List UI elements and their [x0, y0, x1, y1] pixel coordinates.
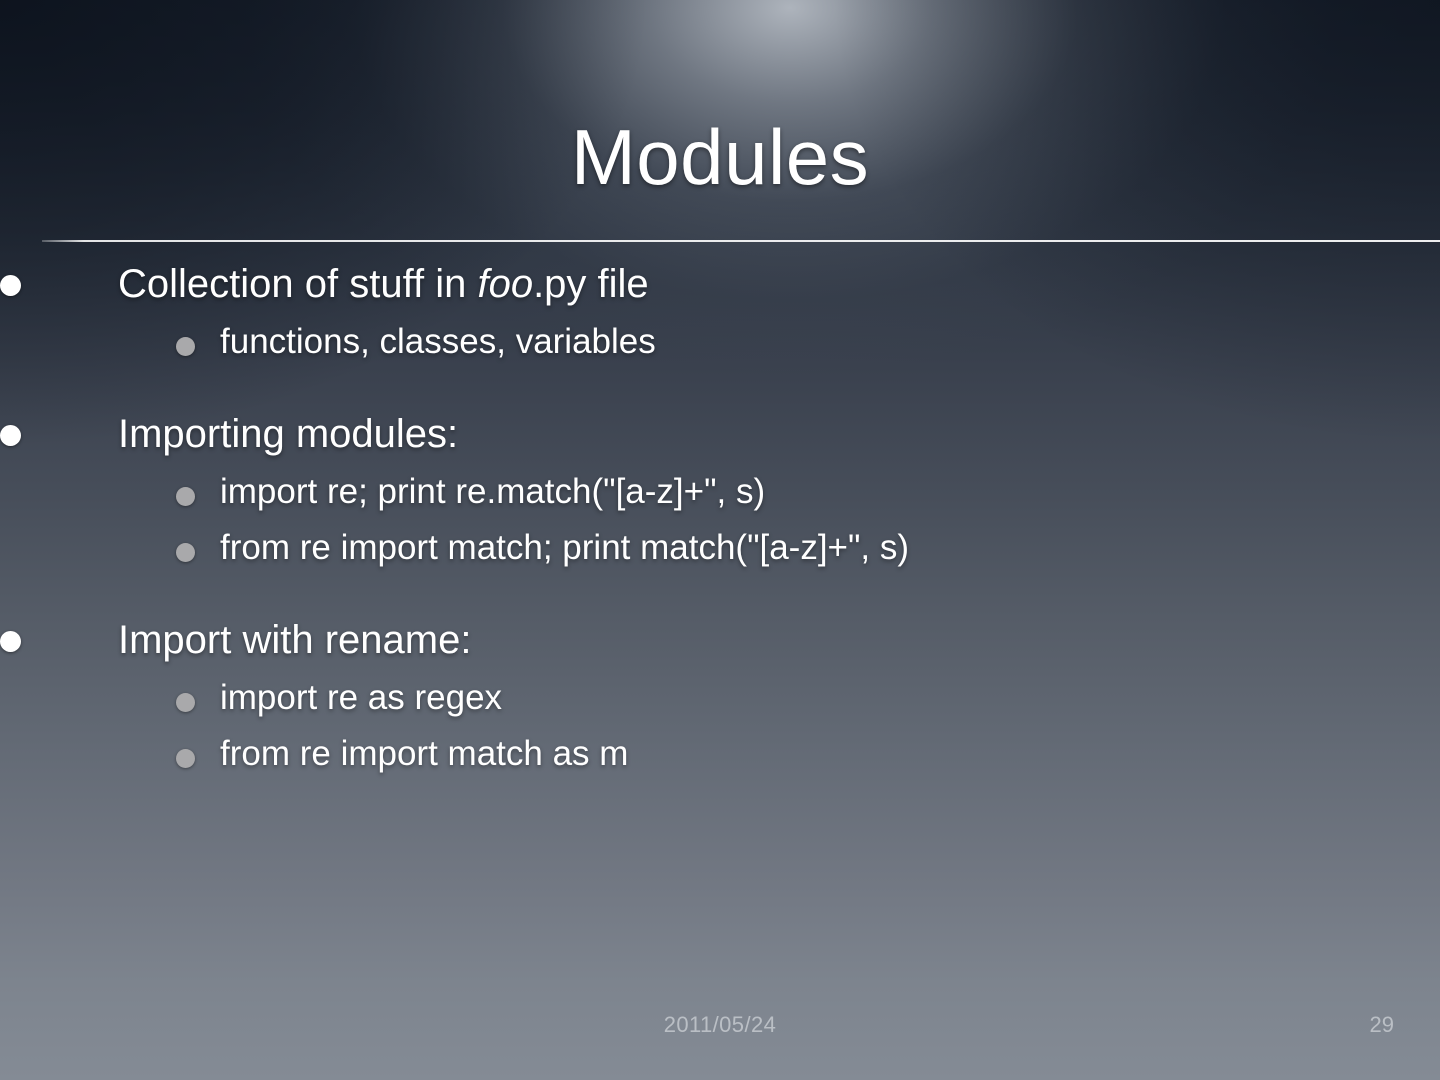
bullet-level1-item: Import with rename:: [0, 614, 1440, 676]
bullet-text-segment-tail: .py file: [533, 262, 649, 306]
bullet-level2-label: from re import match; print match("[a-z]…: [220, 526, 909, 571]
bullet-level1-item: Collection of stuff in foo.py file: [0, 258, 1440, 320]
sub-bullet-dot-icon: [176, 693, 195, 712]
bullet-level1-item: Importing modules:: [0, 408, 1440, 470]
presentation-slide: Modules Collection of stuff in foo.py fi…: [0, 0, 1440, 1080]
bullet-level2-label: import re as regex: [220, 676, 502, 721]
bullet-level1-label: Collection of stuff in foo.py file: [118, 258, 649, 310]
bullet-level2-label: functions, classes, variables: [220, 320, 656, 365]
bullet-group: Import with rename: import re as regex f…: [0, 614, 1440, 788]
bullet-level2-item: functions, classes, variables: [0, 320, 1440, 376]
bullet-dot-icon: [0, 425, 21, 446]
bullet-dot-icon: [0, 631, 21, 652]
bullet-text-segment: Collection of stuff in: [118, 262, 477, 306]
bullet-level1-label: Importing modules:: [118, 408, 458, 460]
bullet-dot-icon: [0, 275, 21, 296]
footer-date: 2011/05/24: [0, 1012, 1440, 1038]
bullet-group: Importing modules: import re; print re.m…: [0, 408, 1440, 582]
slide-title: Modules: [0, 118, 1440, 196]
bullet-group: Collection of stuff in foo.py file funct…: [0, 258, 1440, 376]
sub-bullet-dot-icon: [176, 487, 195, 506]
bullet-level2-item: from re import match as m: [0, 732, 1440, 788]
bullet-level2-item: from re import match; print match("[a-z]…: [0, 526, 1440, 582]
bullet-level2-item: import re; print re.match("[a-z]+", s): [0, 470, 1440, 526]
bullet-level2-label: import re; print re.match("[a-z]+", s): [220, 470, 765, 515]
sub-bullet-dot-icon: [176, 337, 195, 356]
bullet-level1-label: Import with rename:: [118, 614, 471, 666]
sub-bullet-dot-icon: [176, 749, 195, 768]
sub-bullet-dot-icon: [176, 543, 195, 562]
title-divider-rule: [42, 240, 1440, 242]
bullet-level2-label: from re import match as m: [220, 732, 628, 777]
bullet-level2-item: import re as regex: [0, 676, 1440, 732]
footer-page-number: 29: [1370, 1012, 1394, 1038]
bullet-text-italic-segment: foo: [477, 262, 533, 306]
slide-content-body: Collection of stuff in foo.py file funct…: [0, 258, 1440, 788]
